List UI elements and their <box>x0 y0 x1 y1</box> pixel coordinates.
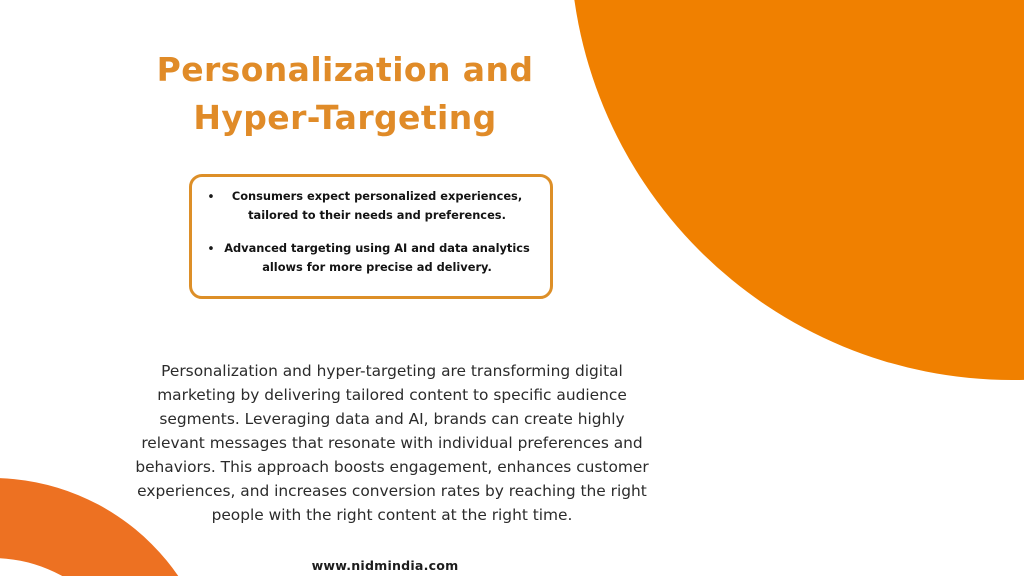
list-item: • Consumers expect personalized experien… <box>200 187 538 225</box>
page-title-line-2: Hyper-Targeting <box>120 94 570 142</box>
presentation-slide: Personalization and Hyper-Targeting • Co… <box>0 0 1024 576</box>
list-item: • Advanced targeting using AI and data a… <box>200 239 538 277</box>
list-item-label: Advanced targeting using AI and data ana… <box>222 239 538 277</box>
top-right-circle-decoration <box>570 0 1024 380</box>
list-item-label: Consumers expect personalized experience… <box>222 187 538 225</box>
footer-website-url: www.nidmindia.com <box>240 558 530 573</box>
bullet-marker-icon: • <box>200 239 222 259</box>
bullet-marker-icon: • <box>200 187 222 207</box>
body-paragraph: Personalization and hyper-targeting are … <box>128 359 656 527</box>
page-title: Personalization and Hyper-Targeting <box>120 46 570 142</box>
key-points-card: • Consumers expect personalized experien… <box>189 174 553 299</box>
page-title-line-1: Personalization and <box>120 46 570 94</box>
